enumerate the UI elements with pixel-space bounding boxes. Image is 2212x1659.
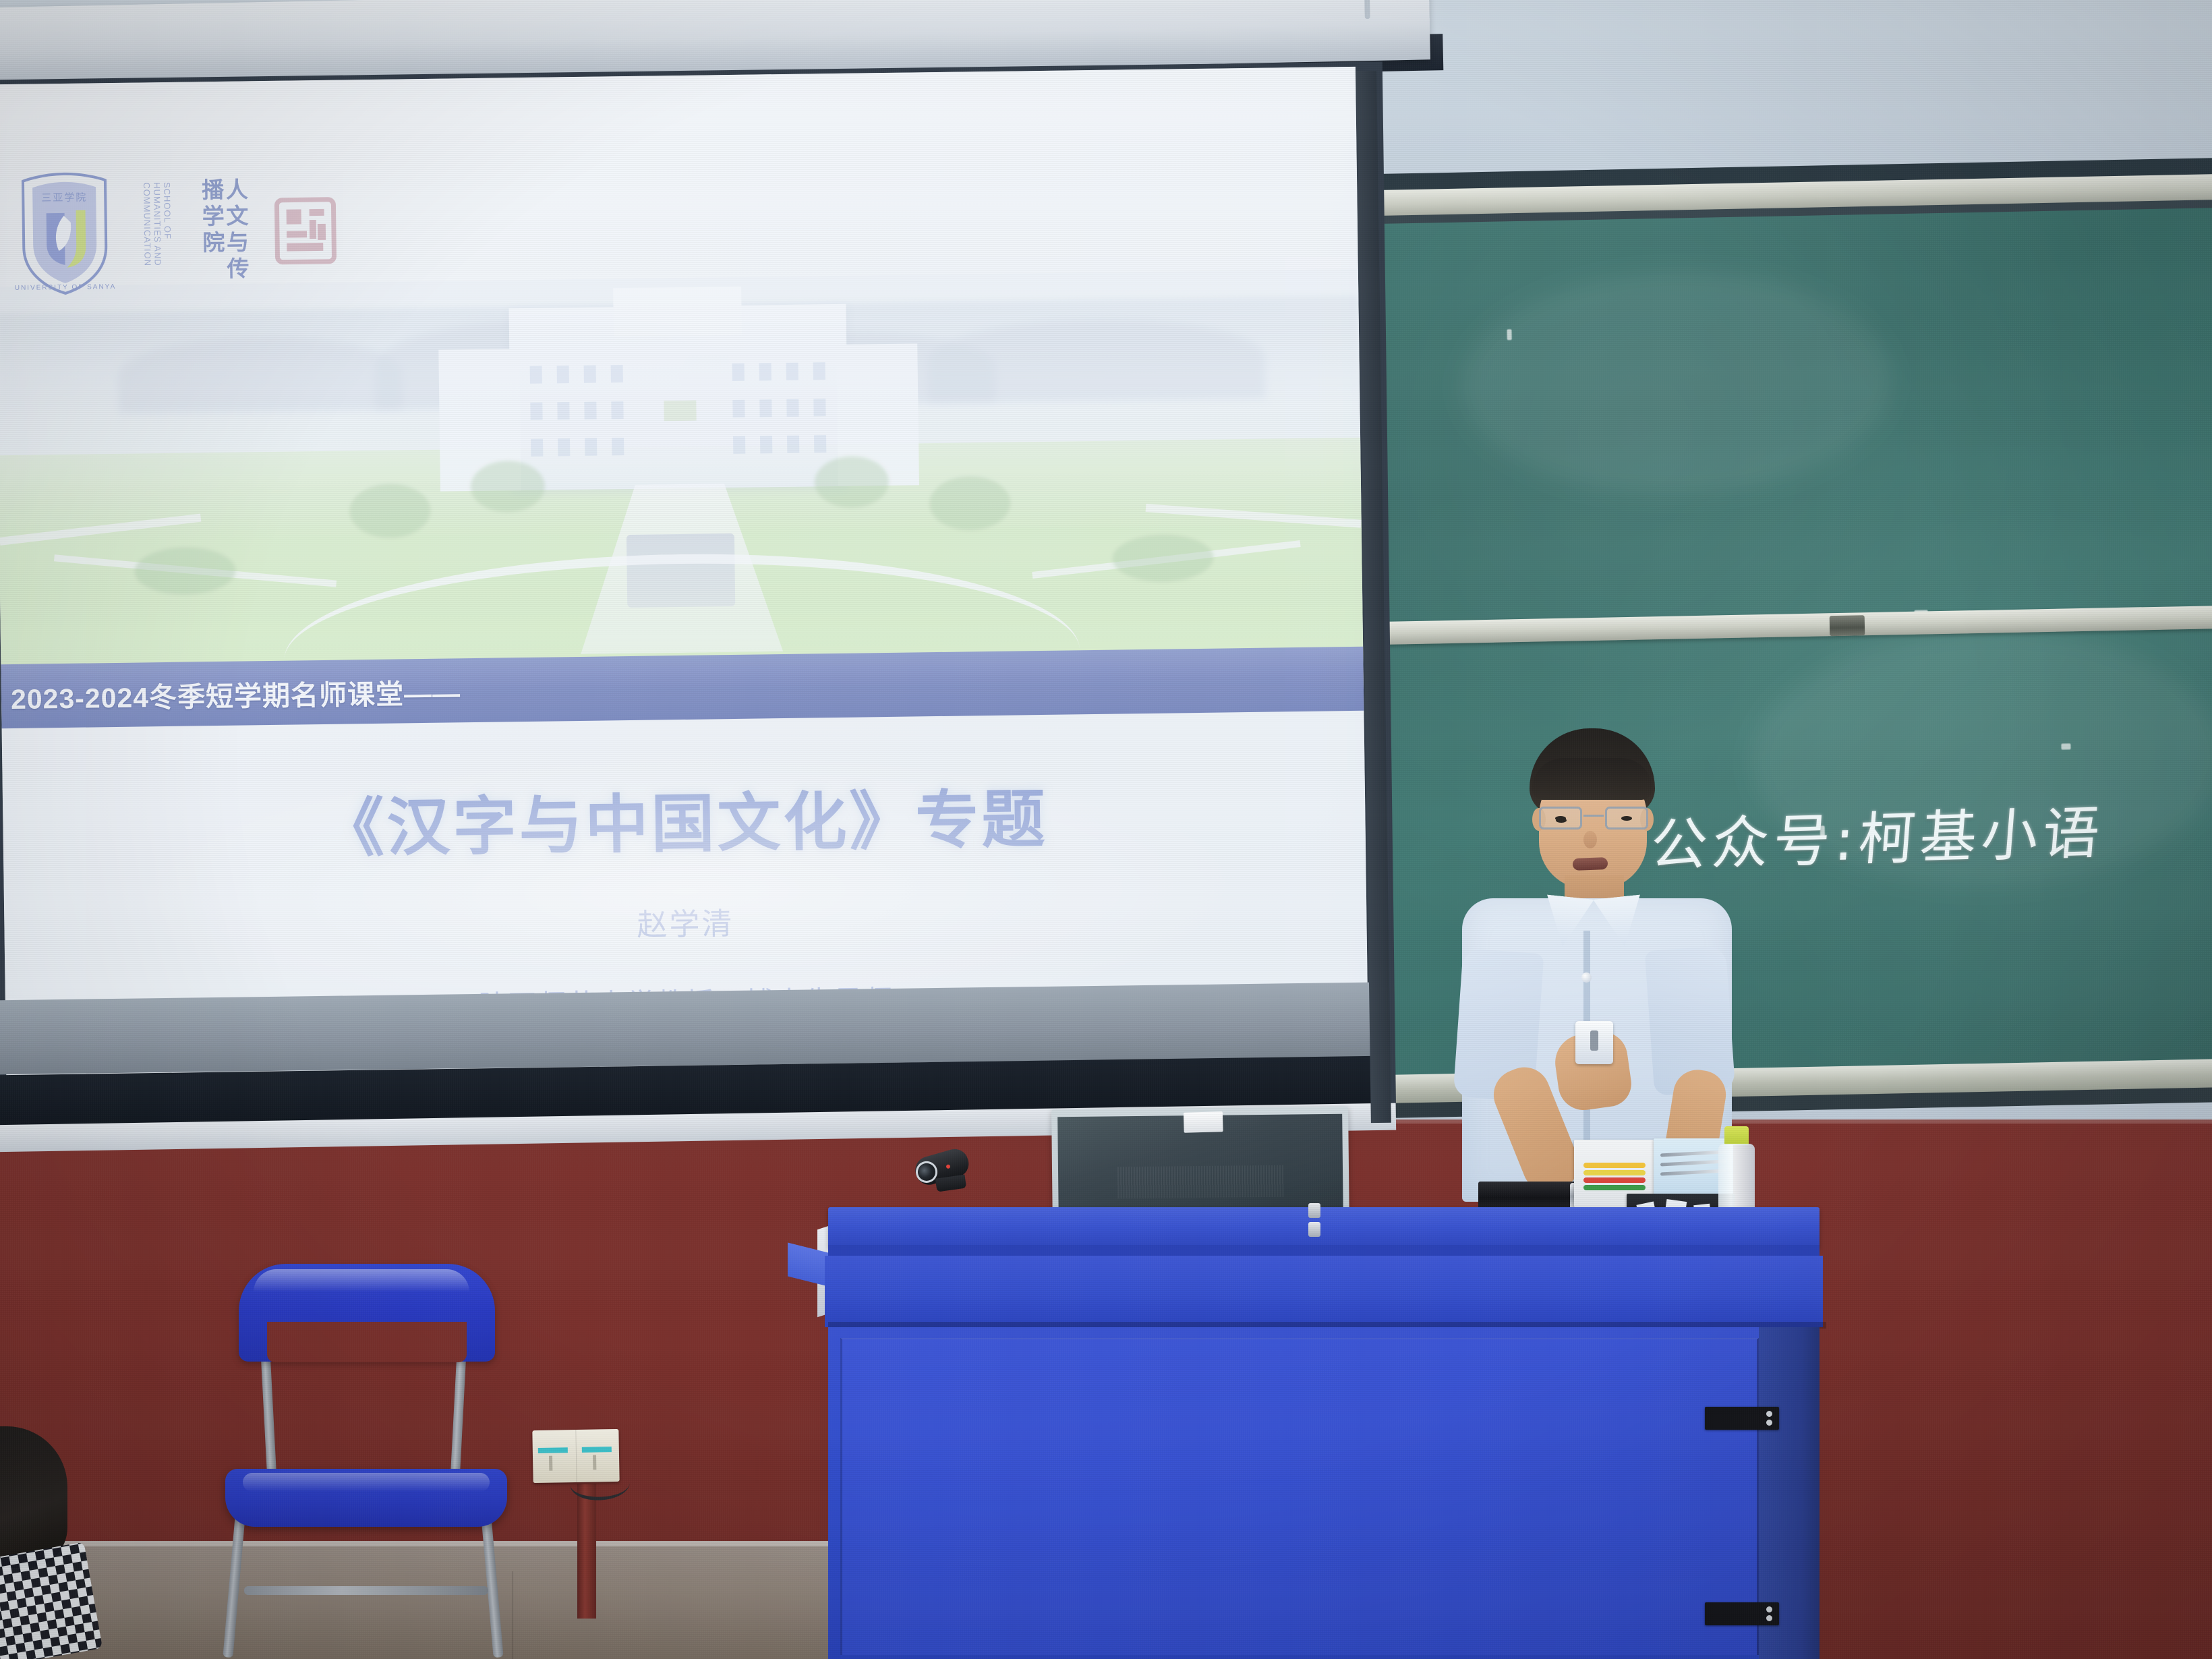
- lectern-body: [828, 1327, 1820, 1659]
- bottle-cap: [1724, 1126, 1749, 1145]
- hinge-icon: [1705, 1407, 1779, 1430]
- chalk-mark: [2061, 743, 2070, 749]
- nose: [1583, 831, 1597, 848]
- chair-icon[interactable]: [202, 1254, 526, 1659]
- chair-back-gap: [267, 1322, 467, 1362]
- latch-icon[interactable]: [1308, 1203, 1320, 1235]
- projection-screen: 三亚学院 UNIVERSITY OF SANYA SCHOOL OF HUMAN…: [0, 67, 1369, 1116]
- chair-seat: [225, 1469, 507, 1527]
- chair-cross-brace: [244, 1586, 488, 1595]
- lecture-hall-scene: 公众号:柯基小语: [0, 0, 2212, 1659]
- glasses-icon: [1538, 807, 1650, 829]
- slide: 三亚学院 UNIVERSITY OF SANYA SCHOOL OF HUMAN…: [0, 67, 1369, 1116]
- slide-title: 《汉字与中国文化》专题: [3, 764, 1366, 873]
- blackboard-handwriting: 公众号:柯基小语: [1650, 784, 2212, 968]
- college-name: 人文与传播学院: [199, 177, 248, 286]
- wall-pipe: [577, 1484, 596, 1619]
- mouth: [1573, 857, 1608, 871]
- slide-author: 赵学清: [4, 891, 1367, 952]
- svg-text:三亚学院: 三亚学院: [41, 191, 87, 204]
- campus-photo: [0, 269, 1363, 678]
- lectern-apron: [825, 1256, 1823, 1327]
- hinge-icon: [1705, 1602, 1779, 1625]
- slide-header: 三亚学院 UNIVERSITY OF SANYA SCHOOL OF HUMAN…: [0, 67, 1358, 307]
- chalk-mark: [1507, 329, 1511, 340]
- presenter-clicker-icon[interactable]: [1575, 1021, 1613, 1064]
- college-pinyin: SCHOOL OF HUMANITIES AND COMMUNICATION: [142, 181, 173, 283]
- university-shield-icon: 三亚学院 UNIVERSITY OF SANYA: [13, 171, 116, 297]
- slide-body: 《汉字与中国文化》专题 赵学清 陕西师范大学教授，博士生导师: [2, 714, 1368, 1029]
- seated-attendee: [0, 1426, 88, 1659]
- blackboard-slide-handle[interactable]: [1830, 615, 1865, 636]
- red-seal-stamp-icon: [274, 196, 337, 264]
- outlet-socket[interactable]: [532, 1430, 577, 1483]
- attendee-clothing: [0, 1542, 103, 1659]
- screen-hook-icon: [1362, 0, 1373, 28]
- monitor-grille: [1117, 1165, 1284, 1198]
- lectern-door[interactable]: [840, 1338, 1759, 1655]
- lectern-top: [828, 1207, 1820, 1248]
- lectern[interactable]: [828, 1207, 1820, 1659]
- svg-text:UNIVERSITY OF SANYA: UNIVERSITY OF SANYA: [15, 283, 116, 292]
- shirt-button: [1581, 972, 1592, 983]
- chalk-smudge: [1459, 268, 1894, 498]
- slide-banner-text: 2023-2024冬季短学期名师课堂——: [1, 670, 461, 717]
- monitor-tag: [1184, 1111, 1223, 1133]
- hair-front: [1532, 758, 1652, 800]
- institution-logo-group: 三亚学院 UNIVERSITY OF SANYA SCHOOL OF HUMAN…: [13, 168, 338, 297]
- photo-washout-overlay: [0, 269, 1363, 678]
